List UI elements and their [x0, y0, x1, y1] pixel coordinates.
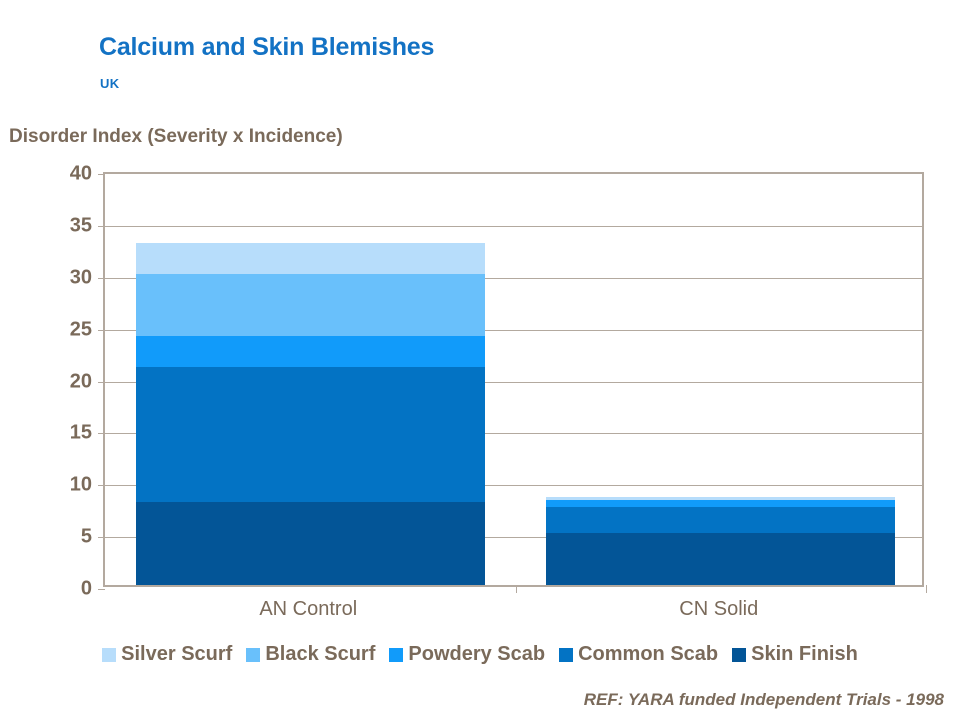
y-axis-tick — [98, 537, 105, 538]
bar-segment-silver-scurf[interactable] — [546, 497, 895, 500]
bar-stack[interactable] — [546, 170, 895, 585]
legend-swatch-icon — [102, 648, 116, 662]
y-axis-tick-label: 30 — [70, 266, 92, 289]
y-axis-tick-label: 15 — [70, 422, 92, 445]
y-axis-tick — [98, 382, 105, 383]
y-axis-tick-label: 25 — [70, 318, 92, 341]
y-axis-tick — [98, 278, 105, 279]
reference-footnote: REF: YARA funded Independent Trials - 19… — [584, 690, 944, 710]
bar-segment-powdery-scab[interactable] — [546, 500, 895, 507]
y-axis-tick — [98, 330, 105, 331]
bar-segment-powdery-scab[interactable] — [136, 336, 485, 367]
legend-swatch-icon — [559, 648, 573, 662]
legend-label: Silver Scurf — [121, 643, 232, 666]
legend-item-skin-finish[interactable]: Skin Finish — [732, 643, 858, 666]
legend-item-black-scurf[interactable]: Black Scurf — [246, 643, 375, 666]
legend-label: Skin Finish — [751, 643, 858, 666]
legend-swatch-icon — [246, 648, 260, 662]
legend-swatch-icon — [389, 648, 403, 662]
bar-stack[interactable] — [136, 170, 485, 585]
chart-plot-area: 4035302520151050 — [103, 172, 924, 587]
legend-swatch-icon — [732, 648, 746, 662]
y-axis-tick — [98, 226, 105, 227]
bar-segment-skin-finish[interactable] — [546, 533, 895, 585]
category-separator — [926, 585, 927, 593]
chart-legend: Silver ScurfBlack ScurfPowdery ScabCommo… — [0, 643, 960, 666]
y-axis-tick-label: 0 — [81, 578, 92, 601]
category-separator — [516, 585, 517, 593]
bar-segment-skin-finish[interactable] — [136, 502, 485, 585]
legend-item-common-scab[interactable]: Common Scab — [559, 643, 718, 666]
y-axis-tick-label: 5 — [81, 526, 92, 549]
page-title: Calcium and Skin Blemishes — [99, 33, 434, 62]
bar-segment-silver-scurf[interactable] — [136, 243, 485, 274]
y-axis-tick — [98, 485, 105, 486]
y-axis-tick — [98, 589, 105, 590]
legend-label: Black Scurf — [265, 643, 375, 666]
bar-segment-black-scurf[interactable] — [136, 274, 485, 336]
y-axis-tick-label: 40 — [70, 163, 92, 186]
legend-item-powdery-scab[interactable]: Powdery Scab — [389, 643, 545, 666]
y-axis-tick-label: 20 — [70, 370, 92, 393]
x-axis-label-an-control: AN Control — [103, 598, 514, 621]
y-axis-tick — [98, 433, 105, 434]
bar-segment-common-scab[interactable] — [136, 367, 485, 502]
legend-item-silver-scurf[interactable]: Silver Scurf — [102, 643, 232, 666]
y-axis-tick-label: 35 — [70, 214, 92, 237]
legend-label: Common Scab — [578, 643, 718, 666]
legend-label: Powdery Scab — [408, 643, 545, 666]
y-axis-tick — [98, 174, 105, 175]
chart-subtitle: UK — [100, 76, 119, 91]
bar-segment-common-scab[interactable] — [546, 507, 895, 533]
x-axis-label-cn-solid: CN Solid — [514, 598, 925, 621]
y-axis-tick-label: 10 — [70, 474, 92, 497]
y-axis-title: Disorder Index (Severity x Incidence) — [9, 126, 343, 148]
